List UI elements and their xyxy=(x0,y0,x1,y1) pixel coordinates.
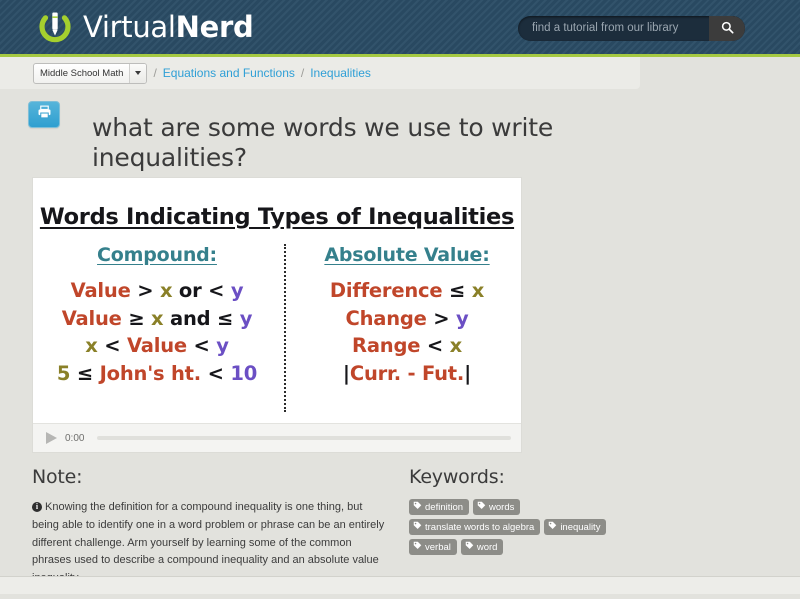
whiteboard-segment: x xyxy=(85,334,104,357)
site-logo[interactable]: VirtualNerd xyxy=(36,6,253,48)
whiteboard-segment: y xyxy=(216,334,229,357)
video-controls: 0:00 xyxy=(33,423,521,452)
keyword-tag[interactable]: verbal xyxy=(409,539,457,555)
whiteboard-segment: ≤ xyxy=(217,307,240,330)
breadcrumb: Middle School Math / Equations and Funct… xyxy=(0,57,640,89)
whiteboard-lines-absolute-value: Difference ≤ xChange > yRange < x|Curr. … xyxy=(285,277,521,388)
keyword-tag-list: definitionwordstranslate words to algebr… xyxy=(409,499,609,555)
tag-icon xyxy=(413,501,422,513)
whiteboard-segment: < xyxy=(427,334,450,357)
whiteboard-segment: < xyxy=(208,362,231,385)
title-row: what are some words we use to write ineq… xyxy=(0,96,800,191)
breadcrumb-separator-1: / xyxy=(153,66,156,80)
whiteboard-segment: < xyxy=(194,334,217,357)
info-icon: i xyxy=(32,502,42,512)
whiteboard-line: 5 ≤ John's ht. < 10 xyxy=(35,360,279,388)
whiteboard-title: Words Indicating Types of Inequalities xyxy=(33,204,521,230)
site-header: VirtualNerd xyxy=(0,0,800,57)
keyword-tag[interactable]: translate words to algebra xyxy=(409,519,540,535)
subject-dropdown-label: Middle School Math xyxy=(34,64,129,83)
video-frame: Words Indicating Types of Inequalities C… xyxy=(33,178,521,423)
keyword-tag-label: verbal xyxy=(425,542,451,553)
keywords-heading: Keywords: xyxy=(409,466,739,488)
whiteboard-segment: x xyxy=(472,279,484,302)
whiteboard-segment: x xyxy=(160,279,179,302)
whiteboard-segment: ≤ xyxy=(77,362,100,385)
whiteboard-line: Range < x xyxy=(285,332,521,360)
whiteboard-segment: Difference xyxy=(330,279,449,302)
whiteboard-segment: y xyxy=(456,307,469,330)
whiteboard-segment: Range xyxy=(352,334,427,357)
play-icon xyxy=(46,432,57,444)
whiteboard-segment: < xyxy=(208,279,231,302)
whiteboard-segment: Value xyxy=(127,334,194,357)
brand-second: Nerd xyxy=(176,10,254,44)
video-player[interactable]: Words Indicating Types of Inequalities C… xyxy=(33,178,521,452)
whiteboard-lines-compound: Value > x or < yValue ≥ x and ≤ yx < Val… xyxy=(35,277,279,388)
breadcrumb-separator-2: / xyxy=(301,66,304,80)
tag-icon xyxy=(477,501,486,513)
breadcrumb-link-equations-and-functions[interactable]: Equations and Functions xyxy=(163,66,295,80)
whiteboard-segment: > xyxy=(433,307,456,330)
printer-icon xyxy=(37,105,52,124)
keyword-tag-label: words xyxy=(489,502,514,513)
whiteboard-line: |Curr. - Fut.| xyxy=(285,360,521,388)
whiteboard-segment: y xyxy=(231,279,244,302)
note-body: iKnowing the definition for a compound i… xyxy=(32,499,392,588)
whiteboard-segment: Value xyxy=(62,307,129,330)
power-pencil-logo-icon xyxy=(36,8,74,46)
whiteboard-segment: 5 xyxy=(57,362,77,385)
whiteboard-segment: Curr. - Fut. xyxy=(350,362,464,385)
video-time-label: 0:00 xyxy=(65,433,84,444)
whiteboard-line: Change > y xyxy=(285,305,521,333)
subject-dropdown[interactable]: Middle School Math xyxy=(33,63,147,84)
whiteboard-segment: and xyxy=(170,307,217,330)
search-button[interactable] xyxy=(709,16,745,41)
whiteboard-line: Value ≥ x and ≤ y xyxy=(35,305,279,333)
whiteboard-segment: Change xyxy=(345,307,433,330)
whiteboard-segment: x xyxy=(450,334,462,357)
whiteboard-segment: | xyxy=(343,362,350,385)
page-title: what are some words we use to write ineq… xyxy=(92,113,612,174)
chevron-down-icon[interactable] xyxy=(129,64,146,83)
whiteboard-segment: x xyxy=(151,307,170,330)
keyword-tag[interactable]: word xyxy=(461,539,504,555)
tag-icon xyxy=(413,541,422,553)
tag-icon xyxy=(413,521,422,533)
whiteboard-segment: < xyxy=(104,334,127,357)
brand-first: Virtual xyxy=(83,10,176,44)
whiteboard-segment: | xyxy=(464,362,471,385)
brand-wordmark: VirtualNerd xyxy=(83,10,253,44)
whiteboard-heading-compound: Compound: xyxy=(35,244,279,266)
keyword-tag[interactable]: inequality xyxy=(544,519,606,535)
keyword-tag-label: inequality xyxy=(560,522,600,533)
play-button[interactable] xyxy=(42,429,60,447)
whiteboard-line: Value > x or < y xyxy=(35,277,279,305)
whiteboard-segment: or xyxy=(179,279,208,302)
whiteboard-segment: y xyxy=(240,307,253,330)
whiteboard-segment: ≥ xyxy=(128,307,151,330)
whiteboard-segment: 10 xyxy=(230,362,257,385)
breadcrumb-link-inequalities[interactable]: Inequalities xyxy=(310,66,371,80)
note-heading: Note: xyxy=(32,466,392,488)
video-progress-bar[interactable] xyxy=(97,436,511,440)
search-input[interactable] xyxy=(518,16,709,41)
whiteboard-segment: ≤ xyxy=(449,279,472,302)
keyword-tag[interactable]: definition xyxy=(409,499,469,515)
whiteboard-segment: > xyxy=(137,279,160,302)
keyword-tag[interactable]: words xyxy=(473,499,520,515)
search-icon xyxy=(721,21,734,37)
keyword-tag-label: translate words to algebra xyxy=(425,522,534,533)
tag-icon xyxy=(548,521,557,533)
keyword-tag-label: word xyxy=(477,542,498,553)
whiteboard-heading-absolute-value: Absolute Value: xyxy=(285,244,521,266)
whiteboard-segment: Value xyxy=(71,279,138,302)
footer-strip xyxy=(0,577,800,594)
keywords-section: Keywords: definitionwordstranslate words… xyxy=(409,466,739,555)
whiteboard-segment: John's ht. xyxy=(100,362,208,385)
note-text: Knowing the definition for a compound in… xyxy=(32,501,384,584)
search-bar[interactable] xyxy=(518,16,745,41)
whiteboard-line: Difference ≤ x xyxy=(285,277,521,305)
whiteboard-column-absolute-value: Absolute Value: Difference ≤ xChange > y… xyxy=(285,244,521,388)
print-button[interactable] xyxy=(28,101,60,128)
whiteboard-column-compound: Compound: Value > x or < yValue ≥ x and … xyxy=(35,244,279,388)
whiteboard-line: x < Value < y xyxy=(35,332,279,360)
keyword-tag-label: definition xyxy=(425,502,463,513)
tag-icon xyxy=(465,541,474,553)
